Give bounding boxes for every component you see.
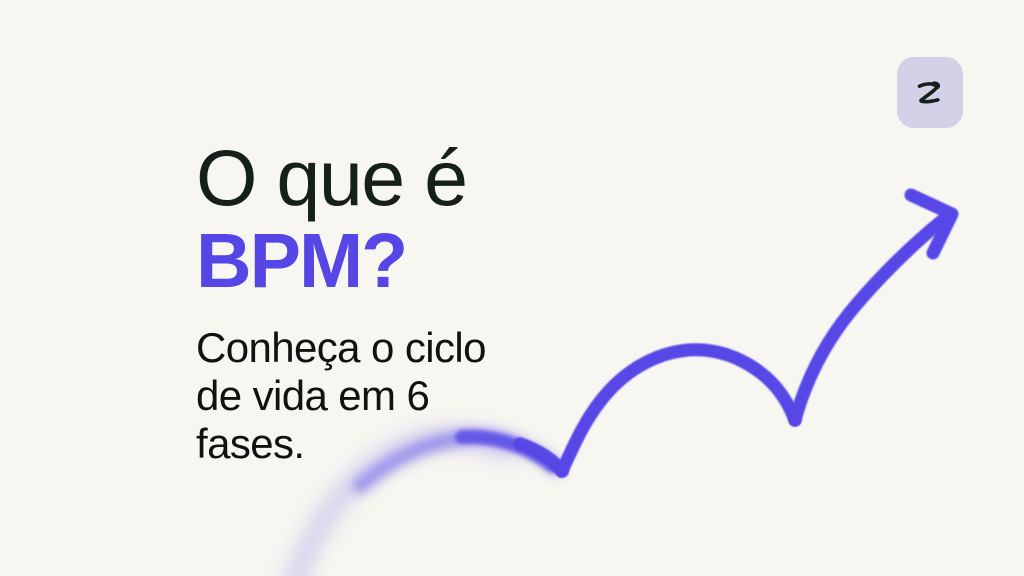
brush-z-logo-icon (910, 73, 950, 113)
headline-line-2-accent: BPM? (196, 220, 616, 302)
subtitle-text: Conheça o ciclo de vida em 6 fases. (196, 324, 526, 468)
headline-line-1: O que é (196, 136, 616, 220)
headline-block: O que é BPM? Conheça o ciclo de vida em … (196, 136, 616, 468)
logo-badge[interactable] (897, 57, 963, 128)
slide-canvas: O que é BPM? Conheça o ciclo de vida em … (0, 0, 1024, 576)
